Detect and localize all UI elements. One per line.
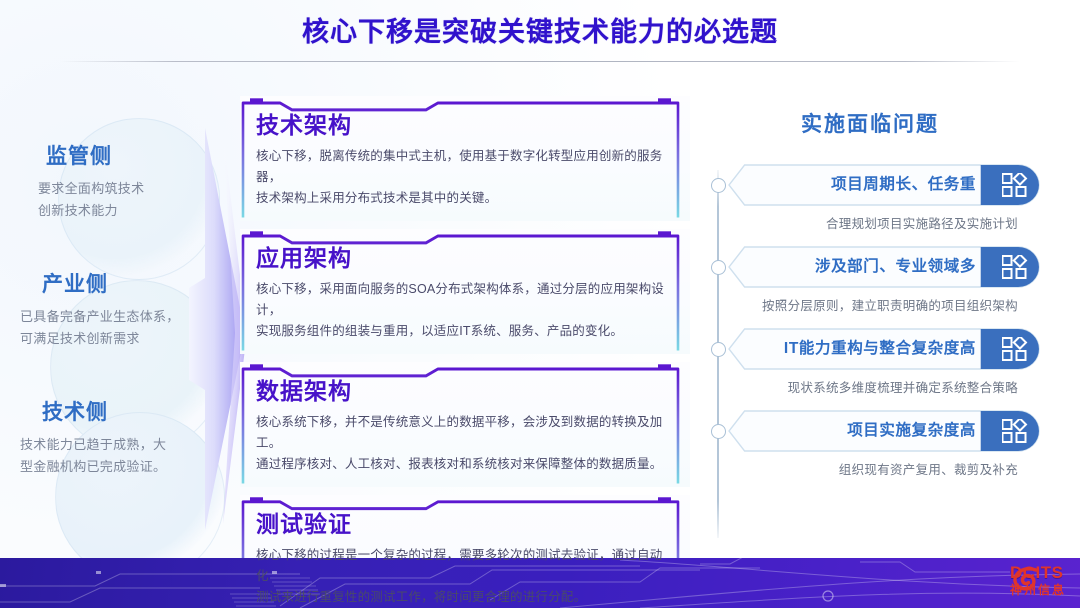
left-block-body: 技术能力已趋于成熟，大 型金融机构已完成验证。 (20, 434, 224, 478)
left-block-regulatory: 监管侧 要求全面构筑技术 创新技术能力 (14, 140, 224, 222)
issue-label: IT能力重构与整合复杂度高 (784, 328, 976, 370)
card-body-line2: 测试来进行重复性的测试工作，将时间更合理的进行分配。 (256, 587, 674, 608)
issue-pill[interactable]: 项目周期长、任务重 (728, 164, 1040, 206)
left-block-heading: 监管侧 (46, 140, 224, 170)
left-column: 监管侧 要求全面构筑技术 创新技术能力 产业侧 已具备完备产业生态体系， 可满足… (14, 140, 224, 478)
grid-diamond-icon (1002, 337, 1028, 361)
card-body: 核心下移，脱离传统的集中式主机，使用基于数字化转型应用创新的服务器， 技术架构上… (256, 146, 674, 209)
right-column: 实施面临问题 项目周期长、任务重 合理规划项目实施路 (700, 108, 1040, 478)
card-body-line2: 通过程序核对、人工核对、报表核对和系统核对来保障整体的数据质量。 (256, 454, 674, 475)
left-block-industry: 产业侧 已具备完备产业生态体系， 可满足技术创新需求 (14, 268, 224, 350)
issue-item-1[interactable]: 项目周期长、任务重 合理规划项目实施路径及实施计划 (700, 164, 1040, 232)
issue-label: 项目周期长、任务重 (831, 164, 976, 206)
card-data-architecture[interactable]: 数据架构 核心系统下移，并不是传统意义上的数据平移，会涉及到数据的转换及加工。 … (240, 362, 690, 487)
left-block-heading: 技术侧 (42, 396, 224, 426)
card-body: 核心下移的过程是一个复杂的过程，需要多轮次的测试去验证，通过自动化 测试来进行重… (256, 545, 674, 608)
issue-subtext: 合理规划项目实施路径及实施计划 (700, 213, 1018, 232)
left-block-body-line2: 型金融机构已完成验证。 (20, 456, 224, 478)
card-body: 核心下移，采用面向服务的SOA分布式架构体系，通过分层的应用架构设计， 实现服务… (256, 279, 674, 342)
grid-diamond-icon (1002, 255, 1028, 279)
timeline-dot-icon (711, 342, 726, 357)
left-block-heading: 产业侧 (42, 268, 224, 298)
timeline-dot-icon (711, 424, 726, 439)
card-test-verification[interactable]: 测试验证 核心下移的过程是一个复杂的过程，需要多轮次的测试去验证，通过自动化 测… (240, 495, 690, 608)
card-body-line1: 核心下移的过程是一个复杂的过程，需要多轮次的测试去验证，通过自动化 (256, 545, 674, 587)
card-tech-architecture[interactable]: 技术架构 核心下移，脱离传统的集中式主机，使用基于数字化转型应用创新的服务器， … (240, 96, 690, 221)
cards-column: 技术架构 核心下移，脱离传统的集中式主机，使用基于数字化转型应用创新的服务器， … (240, 96, 690, 608)
issue-subtext: 按照分层原则，建立职责明确的项目组织架构 (700, 295, 1018, 314)
issue-pill[interactable]: 涉及部门、专业领域多 (728, 246, 1040, 288)
card-body-line1: 核心下移，脱离传统的集中式主机，使用基于数字化转型应用创新的服务器， (256, 146, 674, 188)
grid-diamond-icon (1002, 419, 1028, 443)
card-body-line2: 实现服务组件的组装与重用，以适应IT系统、服务、产品的变化。 (256, 321, 674, 342)
card-body-line2: 技术架构上采用分布式技术是其中的关键。 (256, 188, 674, 209)
issue-subtext: 现状系统多维度梳理并确定系统整合策略 (700, 377, 1018, 396)
slide-root: 核心下移是突破关键技术能力的必选题 监管侧 要求全面构筑技术 创新技术能力 产业… (0, 0, 1080, 608)
left-block-body-line1: 技术能力已趋于成熟，大 (20, 434, 224, 456)
card-body-line1: 核心系统下移，并不是传统意义上的数据平移，会涉及到数据的转换及加工。 (256, 412, 674, 454)
issue-item-2[interactable]: 涉及部门、专业领域多 按照分层原则，建立职责明确的项目组织架构 (700, 246, 1040, 314)
brand-logo: DCITS 神州信息 (1010, 564, 1066, 596)
card-body: 核心系统下移，并不是传统意义上的数据平移，会涉及到数据的转换及加工。 通过程序核… (256, 412, 674, 475)
issue-item-3[interactable]: IT能力重构与整合复杂度高 现状系统多维度梳理并确定系统整合策略 (700, 328, 1040, 396)
left-block-technology: 技术侧 技术能力已趋于成熟，大 型金融机构已完成验证。 (14, 396, 224, 478)
issue-item-4[interactable]: 项目实施复杂度高 组织现有资产复用、裁剪及补充 (700, 410, 1040, 478)
title-divider (60, 61, 1020, 62)
right-column-heading: 实施面临问题 (700, 108, 1040, 138)
issue-pill[interactable]: 项目实施复杂度高 (728, 410, 1040, 452)
card-body-line1: 核心下移，采用面向服务的SOA分布式架构体系，通过分层的应用架构设计， (256, 279, 674, 321)
card-application-architecture[interactable]: 应用架构 核心下移，采用面向服务的SOA分布式架构体系，通过分层的应用架构设计，… (240, 229, 690, 354)
issue-pill[interactable]: IT能力重构与整合复杂度高 (728, 328, 1040, 370)
grid-diamond-icon (1002, 173, 1028, 197)
left-block-body-line1: 已具备完备产业生态体系， (20, 306, 224, 328)
card-title: 数据架构 (256, 372, 674, 406)
issue-subtext: 组织现有资产复用、裁剪及补充 (700, 459, 1018, 478)
issue-label: 项目实施复杂度高 (847, 410, 976, 452)
card-title: 测试验证 (256, 505, 674, 539)
left-block-body-line2: 可满足技术创新需求 (20, 328, 224, 350)
left-block-body-line1: 要求全面构筑技术 (38, 178, 224, 200)
swirl-logo-icon (1010, 564, 1040, 594)
timeline-dot-icon (711, 178, 726, 193)
issue-label: 涉及部门、专业领域多 (815, 246, 976, 288)
left-block-body: 要求全面构筑技术 创新技术能力 (38, 178, 224, 222)
card-title: 技术架构 (256, 106, 674, 140)
timeline-dot-icon (711, 260, 726, 275)
left-block-body-line2: 创新技术能力 (38, 200, 224, 222)
card-title: 应用架构 (256, 239, 674, 273)
left-block-body: 已具备完备产业生态体系， 可满足技术创新需求 (20, 306, 224, 350)
page-title: 核心下移是突破关键技术能力的必选题 (0, 10, 1080, 49)
